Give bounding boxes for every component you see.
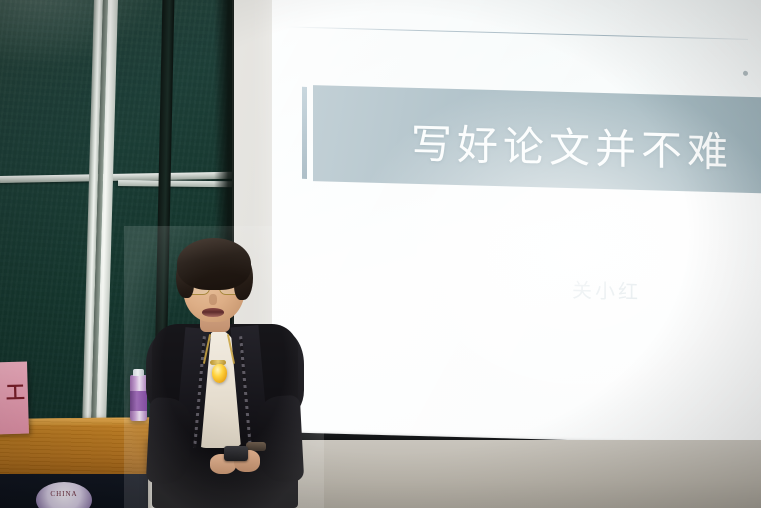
slide-title-text: 写好论文并不难 bbox=[411, 110, 733, 179]
pink-sign-text: 工 bbox=[6, 384, 26, 404]
presenter bbox=[150, 236, 300, 508]
slide-title-accent-bar bbox=[302, 87, 307, 179]
presenter-mouth bbox=[202, 308, 224, 317]
amber-pendant bbox=[212, 364, 227, 383]
purple-bottle bbox=[130, 375, 147, 421]
pink-sign-card: 工 bbox=[0, 362, 29, 435]
lecture-photo: 大讲堂 写好论文并不难 关小红 CHINA 工 bbox=[0, 0, 761, 508]
projection-screen: 大讲堂 写好论文并不难 关小红 bbox=[272, 0, 761, 465]
slide-divider-line bbox=[286, 26, 748, 40]
presentation-clicker bbox=[224, 446, 248, 461]
presenter-hair bbox=[177, 238, 251, 290]
slide-bullet-dot-icon bbox=[743, 71, 748, 76]
emblem-text: CHINA bbox=[36, 490, 92, 498]
presentation-slide: 大讲堂 写好论文并不难 关小红 bbox=[272, 0, 761, 465]
slide-author-text: 关小红 bbox=[572, 274, 641, 305]
presenter-arm-right bbox=[256, 395, 304, 483]
slide-title-band: 写好论文并不难 bbox=[313, 85, 761, 193]
lower-wall bbox=[226, 440, 761, 508]
purple-bottle-cap bbox=[133, 369, 144, 376]
presenter-arm-left bbox=[146, 397, 192, 485]
purple-bottle-label bbox=[130, 391, 147, 411]
presenter-nose bbox=[209, 294, 217, 305]
